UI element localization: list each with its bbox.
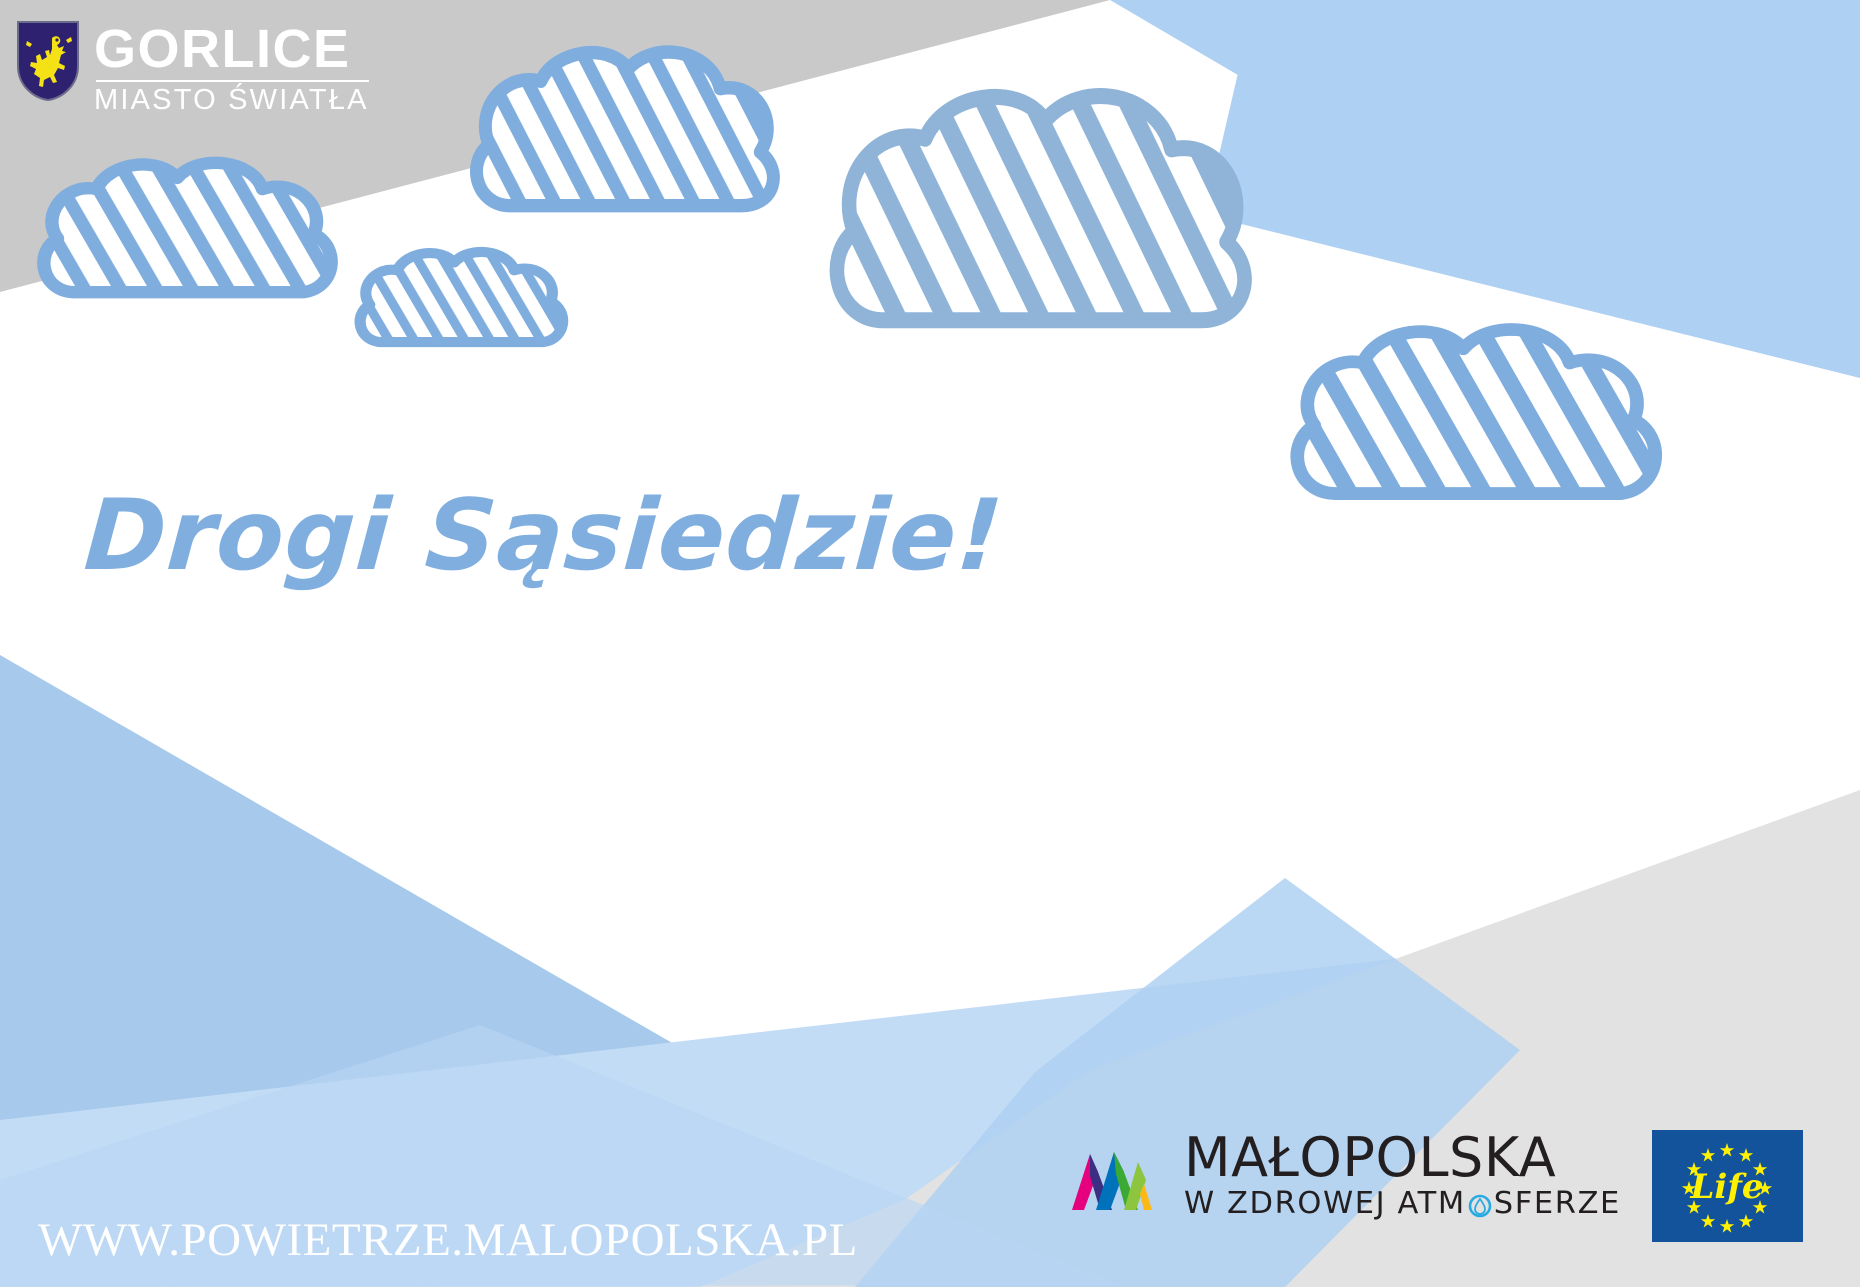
water-drop-icon (1467, 1191, 1493, 1217)
malopolska-subtitle-before: W ZDROWEJ ATM (1184, 1188, 1466, 1220)
page-title: Drogi Sąsiedzie! (82, 487, 1007, 585)
life-wordmark: Life (1689, 1167, 1763, 1207)
malopolska-logo: MAŁOPOLSKA W ZDROWEJ ATM SFERZE (1070, 1128, 1621, 1224)
malopolska-title: MAŁOPOLSKA (1184, 1131, 1621, 1185)
cloud-decorations (0, 0, 1860, 1287)
city-name: GORLICE (94, 23, 369, 76)
eu-flag-icon: Life (1652, 1130, 1803, 1242)
cloud-big-right (837, 96, 1245, 320)
poster-slide: GORLICE MIASTO ŚWIATŁA Drogi Sąsiedzie! … (0, 0, 1860, 1287)
malopolska-mountain-icon (1070, 1128, 1166, 1224)
eu-life-logo: Life (1652, 1130, 1803, 1242)
cloud-far-right (1297, 330, 1655, 494)
cloud-top-center (476, 52, 773, 206)
website-url[interactable]: WWW.POWIETRZE.MALOPOLSKA.PL (38, 1213, 858, 1267)
cloud-small (360, 252, 563, 342)
logo-divider (96, 80, 369, 82)
cloud-left (44, 163, 331, 292)
malopolska-subtitle-after: SFERZE (1494, 1188, 1621, 1220)
malopolska-subtitle: W ZDROWEJ ATM SFERZE (1184, 1188, 1621, 1220)
gorlice-crest-icon (16, 20, 80, 102)
city-tagline: MIASTO ŚWIATŁA (94, 85, 369, 115)
gorlice-city-logo: GORLICE MIASTO ŚWIATŁA (16, 20, 369, 115)
